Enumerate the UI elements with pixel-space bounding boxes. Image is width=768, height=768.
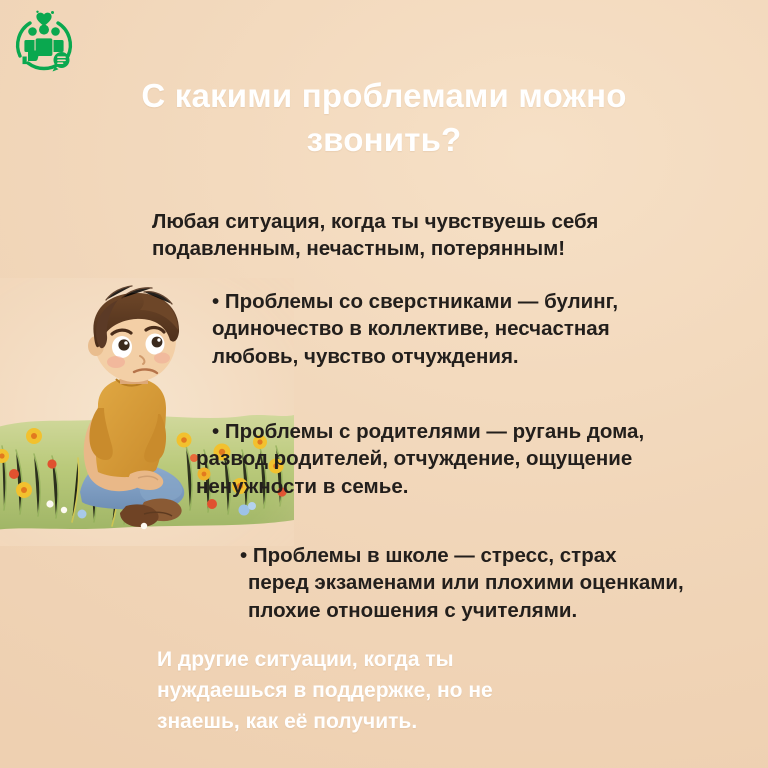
- bullet-parents-line-3: ненужности в семье.: [196, 473, 666, 500]
- person-head-left: [28, 27, 37, 36]
- bullet-school-line-1: • Проблемы в школе — стресс, страх: [240, 542, 670, 569]
- bullet-item-parents: • Проблемы с родителями — ругань дома, р…: [196, 418, 666, 500]
- page-title: С какими проблемами можно звонить?: [96, 74, 672, 161]
- page-title-line-1: С какими проблемами можно: [96, 74, 672, 118]
- bullet-school-line-3: плохие отношения с учителями.: [240, 597, 670, 624]
- bullet-peers-line-1: • Проблемы со сверстниками — булинг,: [212, 288, 664, 315]
- intro-line-2: подавленным, нечастным, потерянным!: [152, 235, 658, 262]
- support-community-logo: [8, 6, 80, 76]
- outro-line-1: И другие ситуации, когда ты: [157, 645, 587, 676]
- outro-line-2: нуждаешься в поддержке, но не: [157, 676, 587, 707]
- bullet-school-line-2: перед экзаменами или плохими оценками,: [240, 569, 670, 596]
- outro-paragraph: И другие ситуации, когда ты нуждаешься в…: [157, 645, 587, 738]
- heart-icon: [36, 13, 51, 26]
- bullet-item-peers: • Проблемы со сверстниками — булинг, оди…: [212, 288, 664, 370]
- bullet-item-school: • Проблемы в школе — стресс, страх перед…: [240, 542, 670, 624]
- bullet-peers-line-3: любовь, чувство отчуждения.: [212, 343, 664, 370]
- person-head-center: [39, 25, 49, 35]
- outro-line-3: знаешь, как её получить.: [157, 707, 587, 738]
- thumb-base: [23, 57, 27, 65]
- bullet-parents-line-2: развод родителей, отчуждение, ощущение: [196, 445, 666, 472]
- intro-paragraph: Любая ситуация, когда ты чувствуешь себя…: [152, 208, 658, 263]
- page-title-line-2: звонить?: [96, 118, 672, 162]
- person-body-right: [54, 40, 64, 52]
- intro-line-1: Любая ситуация, когда ты чувствуешь себя: [152, 208, 658, 235]
- bullet-peers-line-2: одиночество в коллективе, несчастная: [212, 315, 664, 342]
- person-head-right: [51, 27, 60, 36]
- bullet-parents-line-1: • Проблемы с родителями — ругань дома,: [196, 418, 666, 445]
